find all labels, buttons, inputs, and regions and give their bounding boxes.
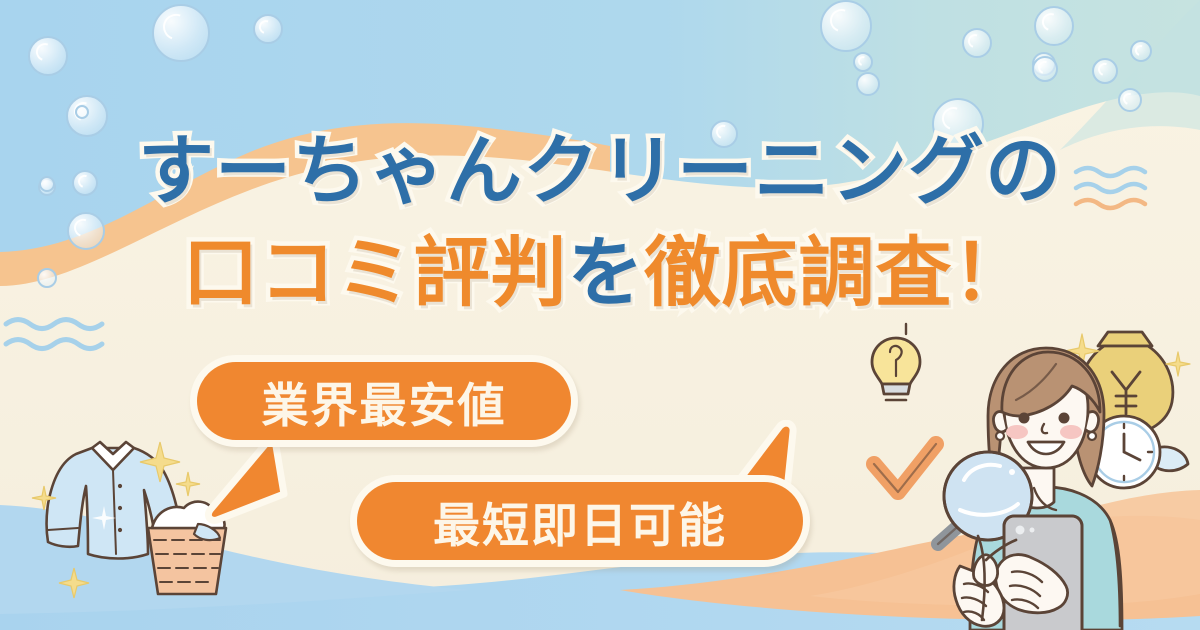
bubble-icon bbox=[75, 105, 89, 119]
badge-same-day-possible: 最短即日可能 bbox=[350, 475, 810, 567]
bubble-icon bbox=[28, 36, 68, 76]
woman-with-smartphone-illustration bbox=[860, 320, 1200, 630]
bubble-icon bbox=[1118, 88, 1142, 112]
badge-1-label: 業界最安値 bbox=[262, 367, 507, 436]
title-line-2-orange-b: 徹底調査！ bbox=[645, 228, 1030, 317]
badge-2-label: 最短即日可能 bbox=[433, 487, 727, 556]
title-line-1: すーちゃんクリーニングの bbox=[0, 120, 1200, 222]
title-block: すーちゃんクリーニングの 口コミ評判を徹底調査！ bbox=[0, 120, 1200, 324]
lightbulb-icon bbox=[872, 324, 920, 400]
bubble-icon bbox=[152, 4, 210, 62]
bubble-icon bbox=[962, 28, 992, 58]
badge-cheapest-in-industry: 業界最安値 bbox=[190, 355, 578, 447]
bubble-icon bbox=[853, 52, 873, 72]
promo-banner: すーちゃんクリーニングの 口コミ評判を徹底調査！ 業界最安値 最短即日可能 bbox=[0, 0, 1200, 630]
title-line-2-blue: を bbox=[568, 228, 645, 317]
bubble-icon bbox=[820, 0, 872, 52]
bubble-icon bbox=[253, 14, 283, 44]
bubble-icon bbox=[856, 72, 880, 96]
title-line-2-orange-a: 口コミ評判 bbox=[183, 228, 568, 317]
bubble-icon bbox=[1032, 56, 1058, 82]
bubble-icon bbox=[1034, 6, 1074, 46]
checkmark-icon bbox=[874, 444, 936, 492]
title-line-2: 口コミ評判を徹底調査！ bbox=[6, 222, 1200, 324]
bubble-icon bbox=[1130, 40, 1152, 62]
bubble-icon bbox=[1092, 58, 1118, 84]
